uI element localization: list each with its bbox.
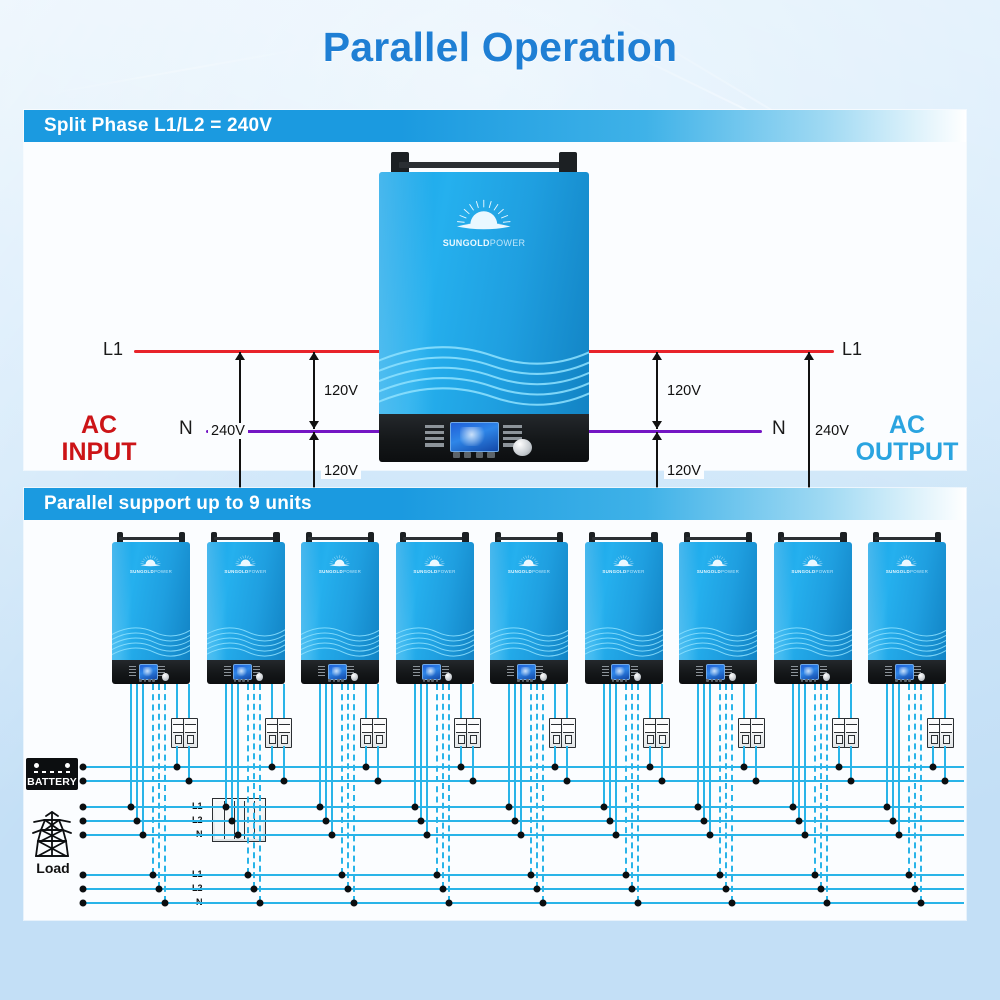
junction-node bbox=[433, 872, 440, 879]
junction-node bbox=[518, 832, 525, 839]
led-indicators-left bbox=[507, 666, 514, 677]
unit-4-grid-drop-2 bbox=[420, 684, 422, 820]
unit-7-load-drop-3 bbox=[731, 684, 733, 902]
lcd-glow bbox=[615, 667, 626, 677]
junction-node bbox=[628, 886, 635, 893]
unit-6-grid-drop-3 bbox=[615, 684, 617, 834]
unit-8-grid-drop-2 bbox=[798, 684, 800, 820]
unit-2-batt-drop-top-1 bbox=[271, 684, 273, 718]
junction-node bbox=[156, 886, 163, 893]
junction-node bbox=[918, 900, 925, 907]
unit-6-load-drop-2 bbox=[631, 684, 633, 888]
input-wire-l1 bbox=[134, 350, 382, 353]
output-wire-n bbox=[586, 430, 762, 433]
junction-node bbox=[896, 832, 903, 839]
inverter-logo: SUNGOLDPOWER bbox=[318, 555, 362, 574]
junction-node bbox=[174, 764, 181, 771]
unit-7-load-drop-2 bbox=[725, 684, 727, 888]
decorative-waves bbox=[301, 618, 379, 658]
unit-2-grid-drop-2 bbox=[231, 684, 233, 820]
inverter-body: SUNGOLDPOWER bbox=[585, 542, 663, 661]
inverter-control-base bbox=[868, 660, 946, 684]
unit-2-breaker-2[interactable] bbox=[277, 718, 292, 748]
inverter-logo-text: SUNGOLDPOWER bbox=[507, 570, 551, 574]
unit-9-load-drop-1 bbox=[908, 684, 910, 874]
lcd-glow bbox=[899, 667, 910, 677]
load-bus-l1 bbox=[80, 874, 964, 876]
junction-node bbox=[540, 900, 547, 907]
decorative-waves bbox=[774, 618, 852, 658]
inverter-logo-text: SUNGOLDPOWER bbox=[696, 570, 740, 574]
sun-rays-icon bbox=[140, 555, 163, 567]
junction-node bbox=[244, 872, 251, 879]
unit-2-batt-drop-bottom-2 bbox=[283, 746, 285, 780]
led-indicators-left bbox=[318, 666, 325, 677]
lcd-display[interactable] bbox=[517, 664, 536, 680]
grid-bus-l1 bbox=[80, 806, 964, 808]
bracket-foot-right bbox=[559, 152, 576, 174]
control-buttons[interactable] bbox=[895, 679, 911, 682]
lcd-glow bbox=[426, 667, 437, 677]
control-buttons[interactable] bbox=[801, 679, 817, 682]
power-knob[interactable] bbox=[256, 673, 263, 681]
junction-node bbox=[789, 804, 796, 811]
unit-4-load-drop-1 bbox=[436, 684, 438, 874]
bus-terminal-node bbox=[80, 804, 87, 811]
unit-1-grid-drop-3 bbox=[142, 684, 144, 834]
power-knob[interactable] bbox=[918, 673, 925, 681]
brand-word-1: SUNGOLD bbox=[697, 569, 721, 574]
unit-2-grid-drop-3 bbox=[237, 684, 239, 834]
inverter-wall-bracket bbox=[387, 152, 580, 174]
unit-6-breaker-2[interactable] bbox=[655, 718, 670, 748]
bus-terminal-node bbox=[80, 818, 87, 825]
unit-5-batt-drop-top-2 bbox=[566, 684, 568, 718]
unit-4-batt-drop-top-2 bbox=[472, 684, 474, 718]
unit-7-batt-drop-top-2 bbox=[755, 684, 757, 718]
inverter-control-base bbox=[379, 414, 589, 462]
bracket-rail bbox=[119, 537, 182, 540]
led-indicators-left bbox=[129, 666, 136, 677]
bracket-rail bbox=[686, 537, 749, 540]
lcd-display[interactable] bbox=[706, 664, 725, 680]
inverter-logo: SUNGOLDPOWER bbox=[602, 555, 646, 574]
inverter-unit-5[interactable]: SUNGOLDPOWER bbox=[490, 532, 568, 684]
inverter-logo: SUNGOLDPOWER bbox=[696, 555, 740, 574]
lcd-glow bbox=[521, 667, 532, 677]
junction-node bbox=[612, 832, 619, 839]
unit-1-load-drop-1 bbox=[152, 684, 154, 874]
unit-9-batt-drop-top-2 bbox=[944, 684, 946, 718]
junction-node bbox=[469, 778, 476, 785]
junction-node bbox=[268, 764, 275, 771]
junction-node bbox=[847, 778, 854, 785]
sun-rays-icon bbox=[801, 555, 824, 567]
junction-node bbox=[823, 900, 830, 907]
junction-node bbox=[552, 764, 559, 771]
power-knob[interactable] bbox=[445, 673, 452, 681]
unit-6-load-drop-1 bbox=[625, 684, 627, 874]
parallel-panel: Parallel support up to 9 units BATTERY bbox=[24, 488, 966, 920]
unit-1-load-drop-3 bbox=[164, 684, 166, 902]
junction-node bbox=[512, 818, 519, 825]
power-knob[interactable] bbox=[729, 673, 736, 681]
junction-node bbox=[250, 886, 257, 893]
unit-3-grid-drop-3 bbox=[331, 684, 333, 834]
sun-rays-icon bbox=[423, 555, 446, 567]
unit-5-batt-drop-bottom-2 bbox=[566, 746, 568, 780]
bus-terminal-node bbox=[80, 764, 87, 771]
output-wire-l1 bbox=[586, 350, 834, 353]
unit-7-breaker-2[interactable] bbox=[750, 718, 765, 748]
unit-9-breaker-2[interactable] bbox=[939, 718, 954, 748]
lcd-display[interactable] bbox=[800, 664, 819, 680]
battery-label: BATTERY bbox=[27, 776, 77, 788]
output-dim-120v-upper-arrow bbox=[656, 352, 658, 429]
junction-node bbox=[222, 804, 229, 811]
inverter-unit-3[interactable]: SUNGOLDPOWER bbox=[301, 532, 379, 684]
unit-3-breaker-2[interactable] bbox=[372, 718, 387, 748]
junction-node bbox=[445, 900, 452, 907]
unit-3-batt-drop-top-2 bbox=[377, 684, 379, 718]
unit-1-breaker-2[interactable] bbox=[183, 718, 198, 748]
unit-8-load-drop-2 bbox=[820, 684, 822, 888]
junction-node bbox=[729, 900, 736, 907]
junction-node bbox=[363, 764, 370, 771]
brand-word-2: POWER bbox=[910, 569, 928, 574]
junction-node bbox=[741, 764, 748, 771]
inverter-logo-text: SUNGOLDPOWER bbox=[885, 570, 929, 574]
unit-7-grid-drop-3 bbox=[709, 684, 711, 834]
input-label-n: N bbox=[179, 418, 193, 440]
control-buttons[interactable] bbox=[139, 679, 155, 682]
inverter-body: SUNGOLDPOWER bbox=[379, 172, 589, 414]
junction-node bbox=[930, 764, 937, 771]
lcd-glow bbox=[143, 667, 154, 677]
brand-word-2: POWER bbox=[721, 569, 739, 574]
unit-4-grid-drop-1 bbox=[414, 684, 416, 806]
inverter-logo: SUNGOLDPOWER bbox=[425, 199, 543, 248]
junction-node bbox=[795, 818, 802, 825]
decorative-waves bbox=[679, 618, 757, 658]
junction-node bbox=[600, 804, 607, 811]
sun-rays-icon bbox=[453, 199, 514, 232]
inverter-unit-7[interactable]: SUNGOLDPOWER bbox=[679, 532, 757, 684]
unit-8-load-drop-3 bbox=[826, 684, 828, 902]
unit-3-grid-drop-2 bbox=[325, 684, 327, 820]
unit-6-batt-drop-bottom-2 bbox=[661, 746, 663, 780]
junction-node bbox=[835, 764, 842, 771]
junction-node bbox=[658, 778, 665, 785]
power-knob[interactable] bbox=[823, 673, 830, 681]
inverter-unit-1[interactable]: SUNGOLDPOWER bbox=[112, 532, 190, 684]
bus-terminal-node bbox=[80, 778, 87, 785]
power-knob[interactable] bbox=[513, 439, 532, 456]
lcd-glow bbox=[237, 667, 248, 677]
parallel-header-bar: Parallel support up to 9 units bbox=[24, 488, 966, 520]
unit-9-grid-drop-3 bbox=[898, 684, 900, 834]
inverter-unit-6[interactable]: SUNGOLDPOWER bbox=[585, 532, 663, 684]
junction-node bbox=[811, 872, 818, 879]
junction-node bbox=[150, 872, 157, 879]
inverter-unit-main[interactable]: SUNGOLDPOWER bbox=[379, 152, 589, 462]
bracket-rail bbox=[592, 537, 655, 540]
ac-output-label: AC OUTPUT bbox=[848, 412, 966, 466]
inverter-logo-text: SUNGOLDPOWER bbox=[318, 570, 362, 574]
control-buttons[interactable] bbox=[612, 679, 628, 682]
unit-9-load-drop-2 bbox=[914, 684, 916, 888]
junction-node bbox=[695, 804, 702, 811]
ac-input-label: AC INPUT bbox=[46, 412, 152, 466]
inverter-body: SUNGOLDPOWER bbox=[490, 542, 568, 661]
lcd-display[interactable] bbox=[450, 422, 498, 452]
inverter-unit-4[interactable]: SUNGOLDPOWER bbox=[396, 532, 474, 684]
unit-5-load-drop-3 bbox=[542, 684, 544, 902]
brand-word-1: SUNGOLD bbox=[130, 569, 154, 574]
decorative-waves bbox=[868, 618, 946, 658]
split-phase-panel: Split Phase L1/L2 = 240V L1 N L2 AC INPU… bbox=[24, 110, 966, 470]
output-label-n: N bbox=[772, 418, 786, 440]
split-phase-diagram: L1 N L2 AC INPUT 240V 120V 120V L1 N L2 … bbox=[24, 142, 966, 470]
lcd-display[interactable] bbox=[328, 664, 347, 680]
bracket-rail bbox=[214, 537, 277, 540]
lcd-display[interactable] bbox=[422, 664, 441, 680]
inverter-body: SUNGOLDPOWER bbox=[301, 542, 379, 661]
unit-8-breaker-2[interactable] bbox=[844, 718, 859, 748]
unit-5-grid-drop-3 bbox=[520, 684, 522, 834]
inverter-control-base bbox=[396, 660, 474, 684]
brand-word-2: POWER bbox=[626, 569, 644, 574]
control-buttons[interactable] bbox=[453, 452, 495, 458]
junction-node bbox=[351, 900, 358, 907]
junction-node bbox=[707, 832, 714, 839]
inverter-unit-9[interactable]: SUNGOLDPOWER bbox=[868, 532, 946, 684]
inverter-body: SUNGOLDPOWER bbox=[679, 542, 757, 661]
unit-4-load-drop-2 bbox=[442, 684, 444, 888]
junction-node bbox=[323, 818, 330, 825]
control-buttons[interactable] bbox=[234, 679, 250, 682]
page-title: Parallel Operation bbox=[0, 24, 1000, 71]
unit-2-batt-drop-top-2 bbox=[283, 684, 285, 718]
inverter-control-base bbox=[774, 660, 852, 684]
led-indicators-left bbox=[224, 666, 231, 677]
junction-node bbox=[256, 900, 263, 907]
junction-node bbox=[912, 886, 919, 893]
power-knob[interactable] bbox=[351, 673, 358, 681]
unit-6-grid-drop-1 bbox=[603, 684, 605, 806]
ac-input-line1: AC bbox=[46, 412, 152, 439]
battery-bus-negative bbox=[80, 780, 964, 782]
junction-node bbox=[506, 804, 513, 811]
input-dim-240v-label: 240V bbox=[208, 423, 248, 439]
junction-node bbox=[457, 764, 464, 771]
inverter-logo: SUNGOLDPOWER bbox=[129, 555, 173, 574]
junction-node bbox=[622, 872, 629, 879]
unit-1-load-drop-2 bbox=[158, 684, 160, 888]
unit-8-grid-drop-3 bbox=[804, 684, 806, 834]
unit-2-load-drop-1 bbox=[247, 684, 249, 874]
unit-5-grid-drop-2 bbox=[514, 684, 516, 820]
transmission-tower-icon bbox=[32, 810, 72, 858]
unit-2-load-drop-2 bbox=[253, 684, 255, 888]
ac-input-line2: INPUT bbox=[46, 439, 152, 466]
inverter-control-base bbox=[207, 660, 285, 684]
sun-rays-icon bbox=[896, 555, 919, 567]
unit-3-batt-drop-bottom-2 bbox=[377, 746, 379, 780]
battery-bus-positive bbox=[80, 766, 964, 768]
unit-8-batt-drop-top-1 bbox=[838, 684, 840, 718]
output-dim-240v-label: 240V bbox=[812, 423, 852, 439]
inverter-body: SUNGOLDPOWER bbox=[396, 542, 474, 661]
unit-4-breaker-2[interactable] bbox=[466, 718, 481, 748]
inverter-body: SUNGOLDPOWER bbox=[207, 542, 285, 661]
unit-4-batt-drop-bottom-2 bbox=[472, 746, 474, 780]
junction-node bbox=[329, 832, 336, 839]
sun-rays-icon bbox=[707, 555, 730, 567]
decorative-waves bbox=[396, 618, 474, 658]
bracket-rail bbox=[497, 537, 560, 540]
inverter-logo: SUNGOLDPOWER bbox=[507, 555, 551, 574]
unit-4-load-drop-3 bbox=[448, 684, 450, 902]
unit-1-batt-drop-top-1 bbox=[176, 684, 178, 718]
junction-node bbox=[140, 832, 147, 839]
grid-bus-l2 bbox=[80, 820, 964, 822]
junction-node bbox=[890, 818, 897, 825]
junction-node bbox=[906, 872, 913, 879]
brand-word-1: SUNGOLD bbox=[791, 569, 815, 574]
unit-9-batt-drop-bottom-2 bbox=[944, 746, 946, 780]
power-knob[interactable] bbox=[162, 673, 169, 681]
ac-output-line1: AC bbox=[848, 412, 966, 439]
junction-node bbox=[717, 872, 724, 879]
bus-terminal-node bbox=[80, 900, 87, 907]
unit-8-grid-drop-1 bbox=[792, 684, 794, 806]
brand-word-1: SUNGOLD bbox=[224, 569, 248, 574]
lcd-display[interactable] bbox=[233, 664, 252, 680]
unit-9-grid-drop-2 bbox=[892, 684, 894, 820]
inverter-body: SUNGOLDPOWER bbox=[112, 542, 190, 661]
brand-word-2: POWER bbox=[343, 569, 361, 574]
inverter-logo-text: SUNGOLDPOWER bbox=[425, 239, 543, 248]
control-buttons[interactable] bbox=[423, 679, 439, 682]
sun-rays-icon bbox=[518, 555, 541, 567]
lcd-display[interactable] bbox=[611, 664, 630, 680]
load-bus-n bbox=[80, 902, 964, 904]
unit-9-load-drop-3 bbox=[920, 684, 922, 902]
ac-output-line2: OUTPUT bbox=[848, 439, 966, 466]
junction-node bbox=[646, 764, 653, 771]
unit-5-breaker-2[interactable] bbox=[561, 718, 576, 748]
junction-node bbox=[128, 804, 135, 811]
inverter-unit-2[interactable]: SUNGOLDPOWER bbox=[207, 532, 285, 684]
brand-word-2: POWER bbox=[532, 569, 550, 574]
unit-5-grid-drop-1 bbox=[508, 684, 510, 806]
junction-node bbox=[280, 778, 287, 785]
unit-5-load-drop-2 bbox=[536, 684, 538, 888]
inverter-logo-text: SUNGOLDPOWER bbox=[224, 570, 268, 574]
inverter-logo-text: SUNGOLDPOWER bbox=[791, 570, 835, 574]
brand-word-1: SUNGOLD bbox=[319, 569, 343, 574]
unit-2-load-drop-3 bbox=[259, 684, 261, 902]
lcd-glow bbox=[332, 667, 343, 677]
input-dim-120v-lower-label: 120V bbox=[321, 463, 361, 479]
inverter-logo-text: SUNGOLDPOWER bbox=[413, 570, 457, 574]
led-indicators-left bbox=[602, 666, 609, 677]
sun-rays-icon bbox=[329, 555, 352, 567]
control-buttons[interactable] bbox=[328, 679, 344, 682]
inverter-unit-8[interactable]: SUNGOLDPOWER bbox=[774, 532, 852, 684]
decorative-waves bbox=[585, 618, 663, 658]
inverter-control-base bbox=[112, 660, 190, 684]
lcd-display[interactable] bbox=[895, 664, 914, 680]
unit-1-batt-drop-top-2 bbox=[188, 684, 190, 718]
brand-word-1: SUNGOLD bbox=[413, 569, 437, 574]
junction-node bbox=[753, 778, 760, 785]
decorative-waves bbox=[379, 327, 589, 409]
brand-word-1: SUNGOLD bbox=[602, 569, 626, 574]
brand-word-2: POWER bbox=[490, 238, 526, 248]
unit-3-batt-drop-top-1 bbox=[365, 684, 367, 718]
control-buttons[interactable] bbox=[706, 679, 722, 682]
junction-node bbox=[884, 804, 891, 811]
split-phase-header-label: Split Phase L1/L2 = 240V bbox=[24, 115, 272, 137]
unit-7-grid-drop-2 bbox=[703, 684, 705, 820]
unit-2-grid-drop-1 bbox=[225, 684, 227, 806]
junction-node bbox=[534, 886, 541, 893]
junction-node bbox=[375, 778, 382, 785]
junction-node bbox=[317, 804, 324, 811]
parallel-wiring-diagram: BATTERY Load bbox=[24, 520, 966, 920]
power-knob[interactable] bbox=[540, 673, 547, 681]
unit-5-batt-drop-top-1 bbox=[554, 684, 556, 718]
unit-4-grid-drop-3 bbox=[426, 684, 428, 834]
led-indicators-left bbox=[885, 666, 892, 677]
unit-6-grid-drop-2 bbox=[609, 684, 611, 820]
bracket-rail bbox=[875, 537, 938, 540]
battery-icon: BATTERY bbox=[26, 758, 78, 790]
junction-node bbox=[339, 872, 346, 879]
load-bus-l2 bbox=[80, 888, 964, 890]
input-dim-120v-upper-label: 120V bbox=[321, 383, 361, 399]
input-label-l1: L1 bbox=[103, 339, 123, 360]
lcd-glow bbox=[460, 427, 490, 447]
power-knob[interactable] bbox=[634, 673, 641, 681]
brand-word-1: SUNGOLD bbox=[886, 569, 910, 574]
unit-9-grid-drop-1 bbox=[886, 684, 888, 806]
output-label-l1: L1 bbox=[842, 339, 862, 360]
parallel-header-label: Parallel support up to 9 units bbox=[24, 493, 312, 515]
junction-node bbox=[564, 778, 571, 785]
unit-5-load-drop-1 bbox=[530, 684, 532, 874]
control-buttons[interactable] bbox=[517, 679, 533, 682]
junction-node bbox=[634, 900, 641, 907]
input-dim-120v-upper-arrow bbox=[313, 352, 315, 429]
bracket-rail bbox=[399, 162, 569, 168]
sun-rays-icon bbox=[234, 555, 257, 567]
inverter-control-base bbox=[490, 660, 568, 684]
junction-node bbox=[528, 872, 535, 879]
inverter-logo-text: SUNGOLDPOWER bbox=[602, 570, 646, 574]
lcd-display[interactable] bbox=[139, 664, 158, 680]
split-phase-header-bar: Split Phase L1/L2 = 240V bbox=[24, 110, 966, 142]
bus-terminal-node bbox=[80, 832, 87, 839]
junction-node bbox=[606, 818, 613, 825]
unit-9-batt-drop-top-1 bbox=[932, 684, 934, 718]
inverter-body: SUNGOLDPOWER bbox=[774, 542, 852, 661]
brand-word-2: POWER bbox=[154, 569, 172, 574]
inverter-control-base bbox=[679, 660, 757, 684]
unit-8-batt-drop-top-2 bbox=[850, 684, 852, 718]
